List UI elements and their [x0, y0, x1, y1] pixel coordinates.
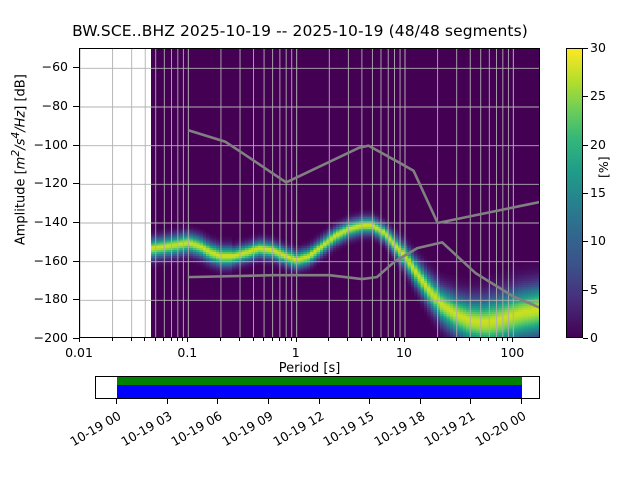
- x-axis-minor-tick: [291, 338, 292, 341]
- timeline-tick: [217, 399, 218, 404]
- colorbar-tick-label: 5: [590, 282, 598, 297]
- nlnm-low-noise-model: [188, 242, 540, 308]
- x-axis-minor-tick: [387, 338, 388, 341]
- x-axis-minor-tick: [502, 338, 503, 341]
- ppsd-figure: BW.SCE..BHZ 2025-10-19 -- 2025-10-19 (48…: [0, 0, 640, 480]
- nhnm-high-noise-model: [188, 130, 540, 223]
- timeline-tick: [369, 399, 370, 404]
- colorbar-tick: [583, 241, 588, 242]
- x-axis-minor-tick: [469, 338, 470, 341]
- timeline-tick: [319, 399, 320, 404]
- x-axis-minor-tick: [263, 338, 264, 341]
- x-axis-minor-tick: [347, 338, 348, 341]
- x-axis-minor-tick: [163, 338, 164, 341]
- timeline-tick: [521, 399, 522, 404]
- x-axis-minor-tick: [131, 338, 132, 341]
- y-axis-tick: [73, 145, 79, 146]
- x-axis-minor-tick: [480, 338, 481, 341]
- colorbar-tick-label: 15: [590, 185, 606, 200]
- coverage-band-blue: [117, 385, 522, 398]
- x-axis-title: Period [s]: [79, 361, 540, 376]
- x-axis-minor-tick: [328, 338, 329, 341]
- y-axis-tick: [73, 222, 79, 223]
- colorbar-tick: [583, 96, 588, 97]
- y-axis-tick-label: −100: [8, 137, 68, 152]
- colorbar-tick-label: 25: [590, 88, 606, 103]
- x-axis-minor-tick: [253, 338, 254, 341]
- x-axis-minor-tick: [112, 338, 113, 341]
- colorbar: [566, 48, 583, 338]
- x-axis-tick-label: 0.01: [49, 345, 109, 360]
- x-axis-minor-tick: [285, 338, 286, 341]
- y-axis-tick-label: −140: [8, 214, 68, 229]
- x-axis-tick-label: 10: [374, 345, 434, 360]
- x-axis-minor-tick: [488, 338, 489, 341]
- y-axis-tick-label: −180: [8, 291, 68, 306]
- y-axis-tick-label: −160: [8, 253, 68, 268]
- x-axis-minor-tick: [371, 338, 372, 341]
- colorbar-tick-label: 10: [590, 233, 606, 248]
- y-axis-tick: [73, 183, 79, 184]
- x-axis-tick: [296, 338, 297, 342]
- x-axis-minor-tick: [496, 338, 497, 341]
- y-axis-tick: [73, 67, 79, 68]
- colorbar-tick: [583, 193, 588, 194]
- data-coverage-timeline[interactable]: [95, 376, 540, 399]
- timeline-tick: [470, 399, 471, 404]
- x-axis-minor-tick: [361, 338, 362, 341]
- x-axis-minor-tick: [171, 338, 172, 341]
- y-axis-tick-label: −120: [8, 175, 68, 190]
- x-axis-tick: [79, 338, 80, 342]
- x-axis-minor-tick: [144, 338, 145, 341]
- x-axis-minor-tick: [437, 338, 438, 341]
- x-axis-minor-tick: [456, 338, 457, 341]
- colorbar-tick: [583, 145, 588, 146]
- x-axis-tick-label: 100: [482, 345, 542, 360]
- x-axis-minor-tick: [239, 338, 240, 341]
- x-axis-minor-tick: [380, 338, 381, 341]
- x-axis-minor-tick: [220, 338, 221, 341]
- coverage-band-green: [117, 377, 522, 385]
- y-axis-tick-label: −80: [8, 98, 68, 113]
- page-title: BW.SCE..BHZ 2025-10-19 -- 2025-10-19 (48…: [0, 22, 600, 40]
- y-axis-tick: [73, 299, 79, 300]
- colorbar-tick: [583, 338, 588, 339]
- x-axis-tick: [512, 338, 513, 342]
- colorbar-tick-label: 0: [590, 330, 598, 345]
- x-axis-minor-tick: [394, 338, 395, 341]
- x-axis-minor-tick: [507, 338, 508, 341]
- x-axis-tick: [404, 338, 405, 342]
- timeline-tick: [420, 399, 421, 404]
- x-axis-tick: [187, 338, 188, 342]
- colorbar-tick-label: 20: [590, 137, 606, 152]
- x-axis-minor-tick: [279, 338, 280, 341]
- x-axis-minor-tick: [155, 338, 156, 341]
- x-axis-minor-tick: [272, 338, 273, 341]
- x-axis-tick-label: 1: [266, 345, 326, 360]
- y-axis-tick: [73, 261, 79, 262]
- timeline-tick: [116, 399, 117, 404]
- y-axis-tick: [73, 106, 79, 107]
- y-axis-tick-label: −200: [8, 330, 68, 345]
- colorbar-tick: [583, 290, 588, 291]
- colorbar-tick-label: 30: [590, 40, 606, 55]
- plot-gridlines-and-curves: [80, 49, 540, 338]
- timeline-tick: [268, 399, 269, 404]
- x-axis-minor-tick: [399, 338, 400, 341]
- y-axis-tick-label: −60: [8, 59, 68, 74]
- ppsd-plot-area[interactable]: [79, 48, 540, 338]
- x-axis-tick-label: 0.1: [157, 345, 217, 360]
- colorbar-tick: [583, 48, 588, 49]
- timeline-tick: [167, 399, 168, 404]
- x-axis-minor-tick: [177, 338, 178, 341]
- x-axis-minor-tick: [182, 338, 183, 341]
